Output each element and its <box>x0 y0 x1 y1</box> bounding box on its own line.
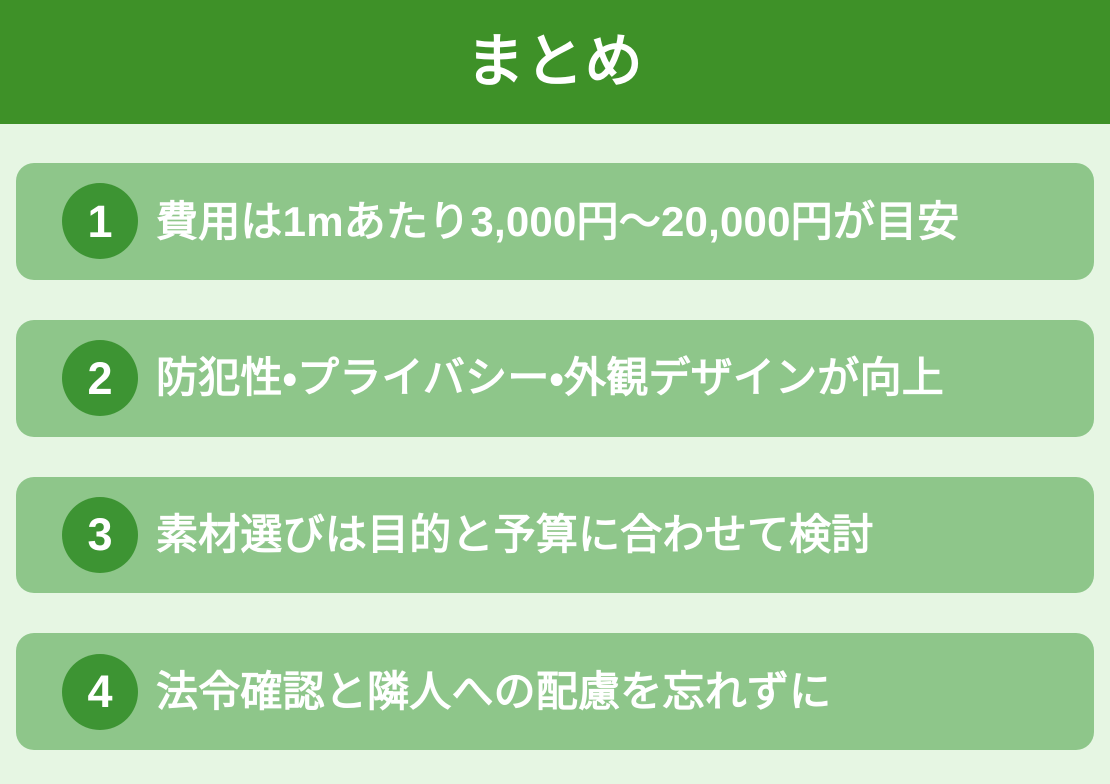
list-item: 1 費用は1mあたり3,000円〜20,000円が目安 <box>16 163 1094 280</box>
summary-slide: まとめ 1 費用は1mあたり3,000円〜20,000円が目安 2 防犯性・プラ… <box>0 0 1110 784</box>
page-title: まとめ <box>446 33 663 91</box>
item-text: 素材選びは目的と予算に合わせて検討 <box>156 510 1072 560</box>
list-item: 2 防犯性・プライバシー・外観デザインが向上 <box>16 320 1094 437</box>
item-text: 費用は1mあたり3,000円〜20,000円が目安 <box>156 197 1072 247</box>
list-item: 3 素材選びは目的と予算に合わせて検討 <box>16 477 1094 594</box>
slide-header: まとめ <box>0 0 1110 124</box>
item-text: 法令確認と隣人への配慮を忘れずに <box>156 667 1072 717</box>
item-number-badge: 1 <box>62 183 138 259</box>
item-number-badge: 2 <box>62 340 138 416</box>
item-number-badge: 3 <box>62 497 138 573</box>
summary-list: 1 費用は1mあたり3,000円〜20,000円が目安 2 防犯性・プライバシー… <box>0 124 1110 784</box>
item-number-badge: 4 <box>62 654 138 730</box>
item-text: 防犯性・プライバシー・外観デザインが向上 <box>156 353 1072 403</box>
list-item: 4 法令確認と隣人への配慮を忘れずに <box>16 633 1094 750</box>
